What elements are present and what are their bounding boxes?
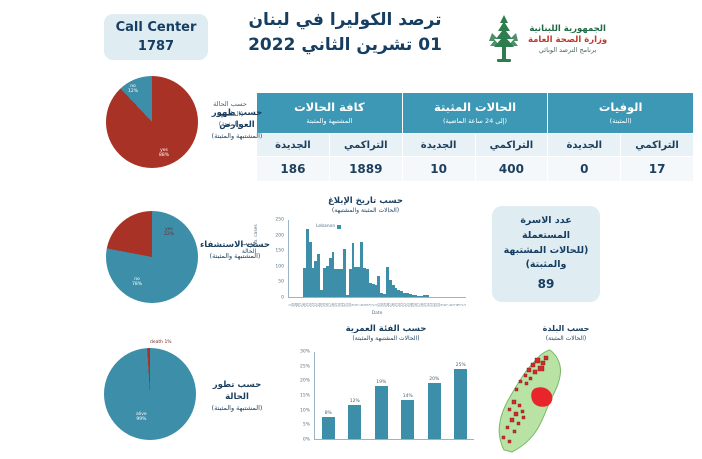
age-y-tick: 25% <box>300 364 310 369</box>
epi-y-axis-label: Nb. cases <box>254 224 259 246</box>
epi-bar <box>326 266 329 297</box>
outcome-pie-label-main: حسب تطور الحالة <box>213 380 261 402</box>
age-y-tick: 30% <box>300 350 310 355</box>
epi-x-tick: 1 <box>463 299 466 311</box>
epi-x-tick: 17 <box>417 299 420 311</box>
group-sub-all-cases: المشتبهة والمثبتة <box>257 117 402 125</box>
outcome-pie: death 1% alive 99% <box>104 348 196 440</box>
epi-x-tick: 21 <box>317 299 320 311</box>
epi-x-tick: 25 <box>305 299 308 311</box>
epi-bar <box>306 229 309 297</box>
age-bar-value-label: 8% <box>325 411 332 416</box>
epi-x-tick: 1 <box>288 299 291 311</box>
value-cell-3: 10 <box>402 157 475 182</box>
beds-used-box: عدد الاسرة المستعملة (للحالات المشتبهة و… <box>492 206 600 302</box>
header: الجمهورية اللبنانية وزارة الصحة العامة ب… <box>0 0 702 82</box>
age-bars: 25%20%14%19%12%8% <box>315 352 474 439</box>
hospitalization-pie: yes 22% no 78% <box>106 211 198 303</box>
epi-y-tick: 200 <box>275 233 284 238</box>
epi-bar <box>354 267 357 297</box>
epi-bar <box>363 268 366 297</box>
epi-x-tick: 20 <box>409 299 412 311</box>
age-bar-value-label: 12% <box>350 399 360 404</box>
age-y-tick: 5% <box>303 423 310 428</box>
epi-bar <box>369 283 372 297</box>
call-center-label: Call Center <box>116 18 197 38</box>
sub-header-1: الجديدة <box>548 134 621 157</box>
epi-bar <box>334 269 337 297</box>
epi-x-tick: 22 <box>314 299 317 311</box>
epi-y-tick: 250 <box>275 218 284 223</box>
dashboard-page: الجمهورية اللبنانية وزارة الصحة العامة ب… <box>0 0 702 459</box>
age-bar-column: 8% <box>322 352 335 439</box>
value-cell-4: 1889 <box>329 157 402 182</box>
age-bar-value-label: 19% <box>376 380 386 385</box>
epi-x-tick: 13 <box>340 299 343 311</box>
epi-x-tick: 12 <box>432 299 435 311</box>
outcome-pie-slice-death-pct: 1% <box>164 340 171 345</box>
epi-x-axis-ticks: 1234567891011121314151617181920212223242… <box>288 299 466 311</box>
logo-line-1: الجمهورية اللبنانية <box>529 24 606 35</box>
sub-header-3: الجديدة <box>402 134 475 157</box>
epi-bar <box>412 295 415 297</box>
epi-x-tick: 29 <box>383 299 386 311</box>
epi-bar <box>375 285 378 297</box>
epi-bar <box>386 267 389 297</box>
epi-bar <box>426 295 429 297</box>
group-title-confirmed: الحالات المثبتة <box>434 100 516 114</box>
epi-x-axis-label: Date <box>288 311 466 316</box>
epi-chart-title-main: حسب تاريخ الإبلاغ <box>328 196 403 206</box>
epi-x-tick: 30 <box>380 299 383 311</box>
age-bar-value-label: 20% <box>429 377 439 382</box>
lebanon-map-svg <box>488 344 608 456</box>
age-bar-column: 25% <box>454 352 467 439</box>
symptoms-pie: no 12% yes 88% <box>106 76 198 168</box>
epi-bar <box>349 269 352 297</box>
epi-x-tick: 8 <box>354 299 357 311</box>
epi-bar <box>320 290 323 297</box>
age-y-tick: 15% <box>300 394 310 399</box>
epi-x-tick: 3 <box>368 299 371 311</box>
symptoms-pie-slice-yes: yes 88% <box>159 148 169 158</box>
age-bar-column: 20% <box>428 352 441 439</box>
age-chart-subtitle: (الحالات المشتبهة والمثبتة) <box>288 335 484 343</box>
epi-bar <box>346 295 349 297</box>
symptoms-pie-label-main: حسب ظهور العوارض <box>212 108 263 130</box>
epi-bar <box>303 268 306 297</box>
epi-x-tick: 31 <box>377 299 380 311</box>
epi-bar <box>332 252 335 297</box>
epi-bar <box>352 243 355 297</box>
ministry-logo: الجمهورية اللبنانية وزارة الصحة العامة ب… <box>484 8 694 70</box>
age-group-chart: حسب الفئة العمرية (الحالات المشتبهة والم… <box>288 324 484 456</box>
epi-x-tick: 18 <box>325 299 328 311</box>
beds-line-2: المستعملة <box>522 229 570 244</box>
epidemic-curve-chart: حسب تاريخ الإبلاغ (الحالات المثبتة والمش… <box>258 196 473 324</box>
hospitalization-pie-slice-yes: yes 22% <box>164 227 174 237</box>
group-header-deaths: الوفيات (المثبتة) <box>548 93 694 134</box>
epi-bar <box>400 291 403 297</box>
age-chart-title-main: حسب الفئة العمرية <box>346 324 427 334</box>
page-title-line-2: 01 تشرين الثاني 2022 <box>220 33 470 58</box>
epi-bar <box>415 295 418 297</box>
logo-line-2: وزارة الصحة العامة <box>528 35 607 46</box>
outcome-pie-slice-death-label: death <box>150 340 163 345</box>
epi-x-tick: 5 <box>452 299 455 311</box>
hospitalization-pie-block: yes 22% no 78% <box>106 211 198 303</box>
epi-bar <box>360 242 363 297</box>
value-cell-5: 186 <box>257 157 330 182</box>
epi-x-tick: 24 <box>397 299 400 311</box>
epi-bar <box>417 296 420 297</box>
epi-chart-title: حسب تاريخ الإبلاغ (الحالات المثبتة والمش… <box>258 196 473 216</box>
page-title: ترصد الكوليرا في لبنان 01 تشرين الثاني 2… <box>220 8 470 57</box>
age-bar <box>348 405 361 439</box>
age-bar-column: 19% <box>375 352 388 439</box>
epi-x-tick: 24 <box>308 299 311 311</box>
symptoms-pie-slice-no-pct: 12% <box>128 89 138 94</box>
epi-x-tick: 1 <box>374 299 377 311</box>
epi-bar <box>366 269 369 297</box>
epi-y-tick: 100 <box>275 264 284 269</box>
epi-x-tick: 7 <box>357 299 360 311</box>
symptoms-pie-slice-yes-pct: 88% <box>159 153 169 158</box>
beds-line-4: والمثبتة) <box>526 258 567 273</box>
epi-bar <box>392 285 395 297</box>
epi-x-tick: 11 <box>345 299 348 311</box>
map-subtitle: (الحالات المثبتة) <box>506 335 626 343</box>
epi-x-tick: 18 <box>414 299 417 311</box>
epi-bar <box>314 261 317 297</box>
age-bar <box>375 386 388 439</box>
epi-bar <box>357 267 360 297</box>
epi-bar <box>317 254 320 297</box>
symptoms-pie-slice-no: no 12% <box>128 84 138 94</box>
outcome-pie-block: death 1% alive 99% <box>104 348 196 440</box>
epi-x-tick: 16 <box>420 299 423 311</box>
outcome-pie-slice-alive-pct: 99% <box>136 417 146 422</box>
beds-value: 89 <box>538 275 555 294</box>
group-title-deaths: الوفيات <box>599 100 643 114</box>
epi-x-tick: 21 <box>406 299 409 311</box>
epi-x-tick: 28 <box>386 299 389 311</box>
symptoms-pie-label: حسب ظهور العوارض (المشتبهة والمثبتة) <box>200 108 274 141</box>
table-group-header-row: الوفيات (المثبتة) الحالات المثبتة (إلى 2… <box>257 93 694 134</box>
epi-x-tick: 4 <box>455 299 458 311</box>
value-cell-1: 0 <box>548 157 621 182</box>
epi-bar <box>389 280 392 297</box>
epi-x-tick: 14 <box>337 299 340 311</box>
epi-bar <box>340 269 343 297</box>
epi-y-axis-ticks: 050100150200250 <box>258 216 286 302</box>
call-center-number: 1787 <box>138 37 174 57</box>
epi-y-tick: 150 <box>275 249 284 254</box>
lebanon-map: حسب البلدة (الحالات المثبتة) <box>478 324 700 456</box>
value-cell-2: 400 <box>475 157 548 182</box>
epi-x-tick: 27 <box>299 299 302 311</box>
table-sub-header-row: التراكمي الجديدة التراكمي الجديدة التراك… <box>257 134 694 157</box>
epi-x-tick: 10 <box>437 299 440 311</box>
outcome-pie-label-sub: (المشتبهة والمثبتة) <box>200 404 274 413</box>
epi-bar <box>337 269 340 297</box>
epi-bar <box>372 284 375 297</box>
epi-x-tick: 22 <box>403 299 406 311</box>
epi-bar <box>380 293 383 297</box>
outcome-pie-slice-death: death 1% <box>150 340 172 345</box>
age-y-tick: 20% <box>300 379 310 384</box>
sub-header-2: التراكمي <box>475 134 548 157</box>
epi-x-tick: 9 <box>440 299 443 311</box>
epi-bars <box>289 220 466 297</box>
hospitalization-pie-slice-no: no 78% <box>132 277 142 287</box>
symptoms-pie-block: no 12% yes 88% <box>106 76 198 168</box>
epi-y-tick: 0 <box>281 296 284 301</box>
epi-x-tick: 10 <box>348 299 351 311</box>
epi-x-tick: 6 <box>449 299 452 311</box>
epi-bar <box>395 288 398 297</box>
map-title: حسب البلدة (الحالات المثبتة) <box>506 324 626 343</box>
ministry-logo-text: الجمهورية اللبنانية وزارة الصحة العامة ب… <box>528 24 607 53</box>
group-sub-confirmed: (إلى 24 ساعة الماضية) <box>403 117 548 125</box>
group-sub-deaths: (المثبتة) <box>548 117 693 125</box>
epi-bar <box>377 276 380 297</box>
epi-x-tick: 9 <box>351 299 354 311</box>
stats-table-wrap: الوفيات (المثبتة) الحالات المثبتة (إلى 2… <box>256 92 694 182</box>
call-center-box: Call Center 1787 <box>104 14 208 60</box>
epi-x-tick: 23 <box>400 299 403 311</box>
age-bar-column: 12% <box>348 352 361 439</box>
hospitalization-pie-slice-no-pct: 78% <box>132 282 142 287</box>
epi-x-tick: 16 <box>331 299 334 311</box>
stats-table: الوفيات (المثبتة) الحالات المثبتة (إلى 2… <box>256 92 694 182</box>
beds-line-1: عدد الاسرة <box>520 214 571 229</box>
group-header-confirmed: الحالات المثبتة (إلى 24 ساعة الماضية) <box>402 93 548 134</box>
age-y-tick: 0% <box>303 438 310 443</box>
epi-x-tick: 29 <box>294 299 297 311</box>
outcome-pie-slice-alive: alive 99% <box>136 412 147 422</box>
group-title-all-cases: كافة الحالات <box>294 100 365 114</box>
epi-x-tick: 19 <box>322 299 325 311</box>
epi-bar <box>420 296 423 297</box>
age-bar <box>401 400 414 439</box>
age-bar-column: 14% <box>401 352 414 439</box>
page-title-line-1: ترصد الكوليرا في لبنان <box>220 8 470 33</box>
hospitalization-pie-slice-yes-pct: 22% <box>164 232 174 237</box>
age-bar-value-label: 25% <box>456 363 466 368</box>
epi-x-tick: 23 <box>311 299 314 311</box>
epi-x-tick: 8 <box>443 299 446 311</box>
epi-bar <box>397 290 400 297</box>
cedar-tree-icon <box>484 13 524 65</box>
epi-bar <box>323 268 326 297</box>
age-bar <box>428 383 441 439</box>
epi-bar <box>343 249 346 297</box>
epi-bar <box>329 258 332 297</box>
epi-bar <box>312 268 315 297</box>
epi-x-tick: 30 <box>291 299 294 311</box>
age-bar <box>322 417 335 439</box>
value-cell-0: 17 <box>621 157 694 182</box>
epi-x-tick: 25 <box>394 299 397 311</box>
epi-bar <box>309 242 312 297</box>
symptoms-pie-label-sub: (المشتبهة والمثبتة) <box>200 132 274 141</box>
epi-x-tick: 13 <box>429 299 432 311</box>
epi-x-tick: 7 <box>446 299 449 311</box>
epi-x-tick: 2 <box>371 299 374 311</box>
epi-bar <box>403 293 406 297</box>
epi-x-tick: 17 <box>328 299 331 311</box>
epi-x-tick: 26 <box>302 299 305 311</box>
age-y-axis-ticks: 0%5%10%15%20%25%30% <box>288 348 312 442</box>
age-plot-area: 25%20%14%19%12%8% <box>314 352 474 440</box>
age-y-tick: 10% <box>300 408 310 413</box>
epi-x-tick: 15 <box>334 299 337 311</box>
logo-line-3: برنامج الترصد الوبائي <box>539 46 596 54</box>
epi-x-tick: 26 <box>391 299 394 311</box>
age-chart-title: حسب الفئة العمرية (الحالات المشتبهة والم… <box>288 324 484 344</box>
group-header-all-cases: كافة الحالات المشتبهة والمثبتة <box>257 93 403 134</box>
sub-header-4: التراكمي <box>329 134 402 157</box>
epi-x-tick: 2 <box>460 299 463 311</box>
epi-x-tick: 14 <box>426 299 429 311</box>
epi-bar <box>406 293 409 297</box>
outcome-pie-label: حسب تطور الحالة (المشتبهة والمثبتة) <box>200 380 274 413</box>
sub-header-0: التراكمي <box>621 134 694 157</box>
epi-bar <box>423 295 426 297</box>
epi-x-tick: 15 <box>423 299 426 311</box>
map-title-main: حسب البلدة <box>543 324 590 333</box>
table-row: 17 0 400 10 1889 186 <box>257 157 694 182</box>
epi-bar <box>383 294 386 297</box>
epi-x-tick: 5 <box>363 299 366 311</box>
beds-line-3: (للحالات المشتبهة <box>504 244 589 259</box>
epi-plot-area <box>288 220 466 298</box>
age-bar-value-label: 14% <box>403 394 413 399</box>
epi-chart-subtitle: (الحالات المثبتة والمشتبهة) <box>258 207 473 215</box>
epi-y-tick: 50 <box>278 280 284 285</box>
epi-bar <box>409 294 412 297</box>
age-bar <box>454 369 467 439</box>
epi-x-tick: 6 <box>360 299 363 311</box>
